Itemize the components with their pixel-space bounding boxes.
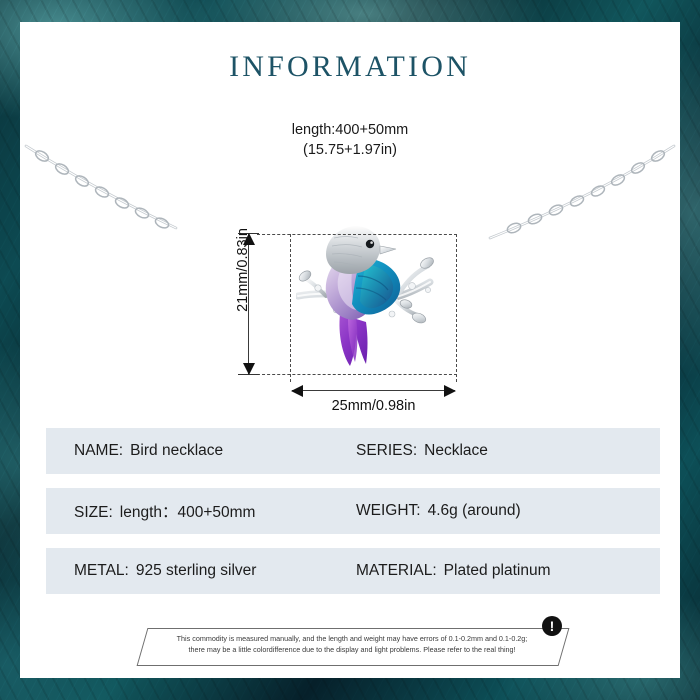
table-row: NAME: Bird necklace SERIES: Necklace <box>46 428 660 474</box>
spec-value: Bird necklace <box>130 442 223 460</box>
width-dimension-label: 25mm/0.98in <box>292 398 455 414</box>
guide-line-bottom <box>257 374 457 375</box>
disclaimer-line-1: This commodity is measured manually, and… <box>156 634 548 645</box>
spec-value: Necklace <box>424 442 488 460</box>
disclaimer-line-2: there may be a little colordifference du… <box>156 645 548 656</box>
white-content-card: INFORMATION length:400+50mm (15.75+1.97i… <box>20 22 680 678</box>
spec-key: WEIGHT: <box>356 502 421 520</box>
spec-cell-size: SIZE: length：400+50mm <box>46 500 356 522</box>
page-title: INFORMATION <box>20 50 680 84</box>
product-illustration-area: length:400+50mm (15.75+1.97in) <box>20 110 680 420</box>
guide-line-top <box>257 234 457 235</box>
spec-key: SERIES: <box>356 442 417 460</box>
spec-value: length：400+50mm <box>120 500 256 522</box>
exclamation-icon: ! <box>542 616 562 636</box>
disclaimer-text: This commodity is measured manually, and… <box>156 634 548 655</box>
spec-cell-weight: WEIGHT: 4.6g (around) <box>356 502 660 520</box>
height-dimension-label: 21mm/0.83in <box>235 225 251 315</box>
spec-cell-name: NAME: Bird necklace <box>46 442 356 460</box>
disclaimer-banner: This commodity is measured manually, and… <box>132 618 572 670</box>
spec-value: 4.6g (around) <box>428 502 521 520</box>
spec-key: SIZE: <box>74 504 113 522</box>
table-row: METAL: 925 sterling silver MATERIAL: Pla… <box>46 548 660 594</box>
width-dimension-arrow <box>292 390 455 391</box>
specification-table: NAME: Bird necklace SERIES: Necklace SIZ… <box>46 428 660 608</box>
spec-key: NAME: <box>74 442 123 460</box>
spec-value: Plated platinum <box>444 562 551 580</box>
spec-key: METAL: <box>74 562 129 580</box>
spec-value: 925 sterling silver <box>136 562 257 580</box>
bird-pendant <box>296 218 456 368</box>
spec-key: MATERIAL: <box>356 562 437 580</box>
spec-cell-material: MATERIAL: Plated platinum <box>356 562 660 580</box>
guide-line-left <box>290 234 291 382</box>
spec-cell-series: SERIES: Necklace <box>356 442 660 460</box>
guide-line-right <box>456 234 457 382</box>
product-info-graphic: INFORMATION length:400+50mm (15.75+1.97i… <box>0 0 700 700</box>
table-row: SIZE: length：400+50mm WEIGHT: 4.6g (arou… <box>46 488 660 534</box>
spec-cell-metal: METAL: 925 sterling silver <box>46 562 356 580</box>
